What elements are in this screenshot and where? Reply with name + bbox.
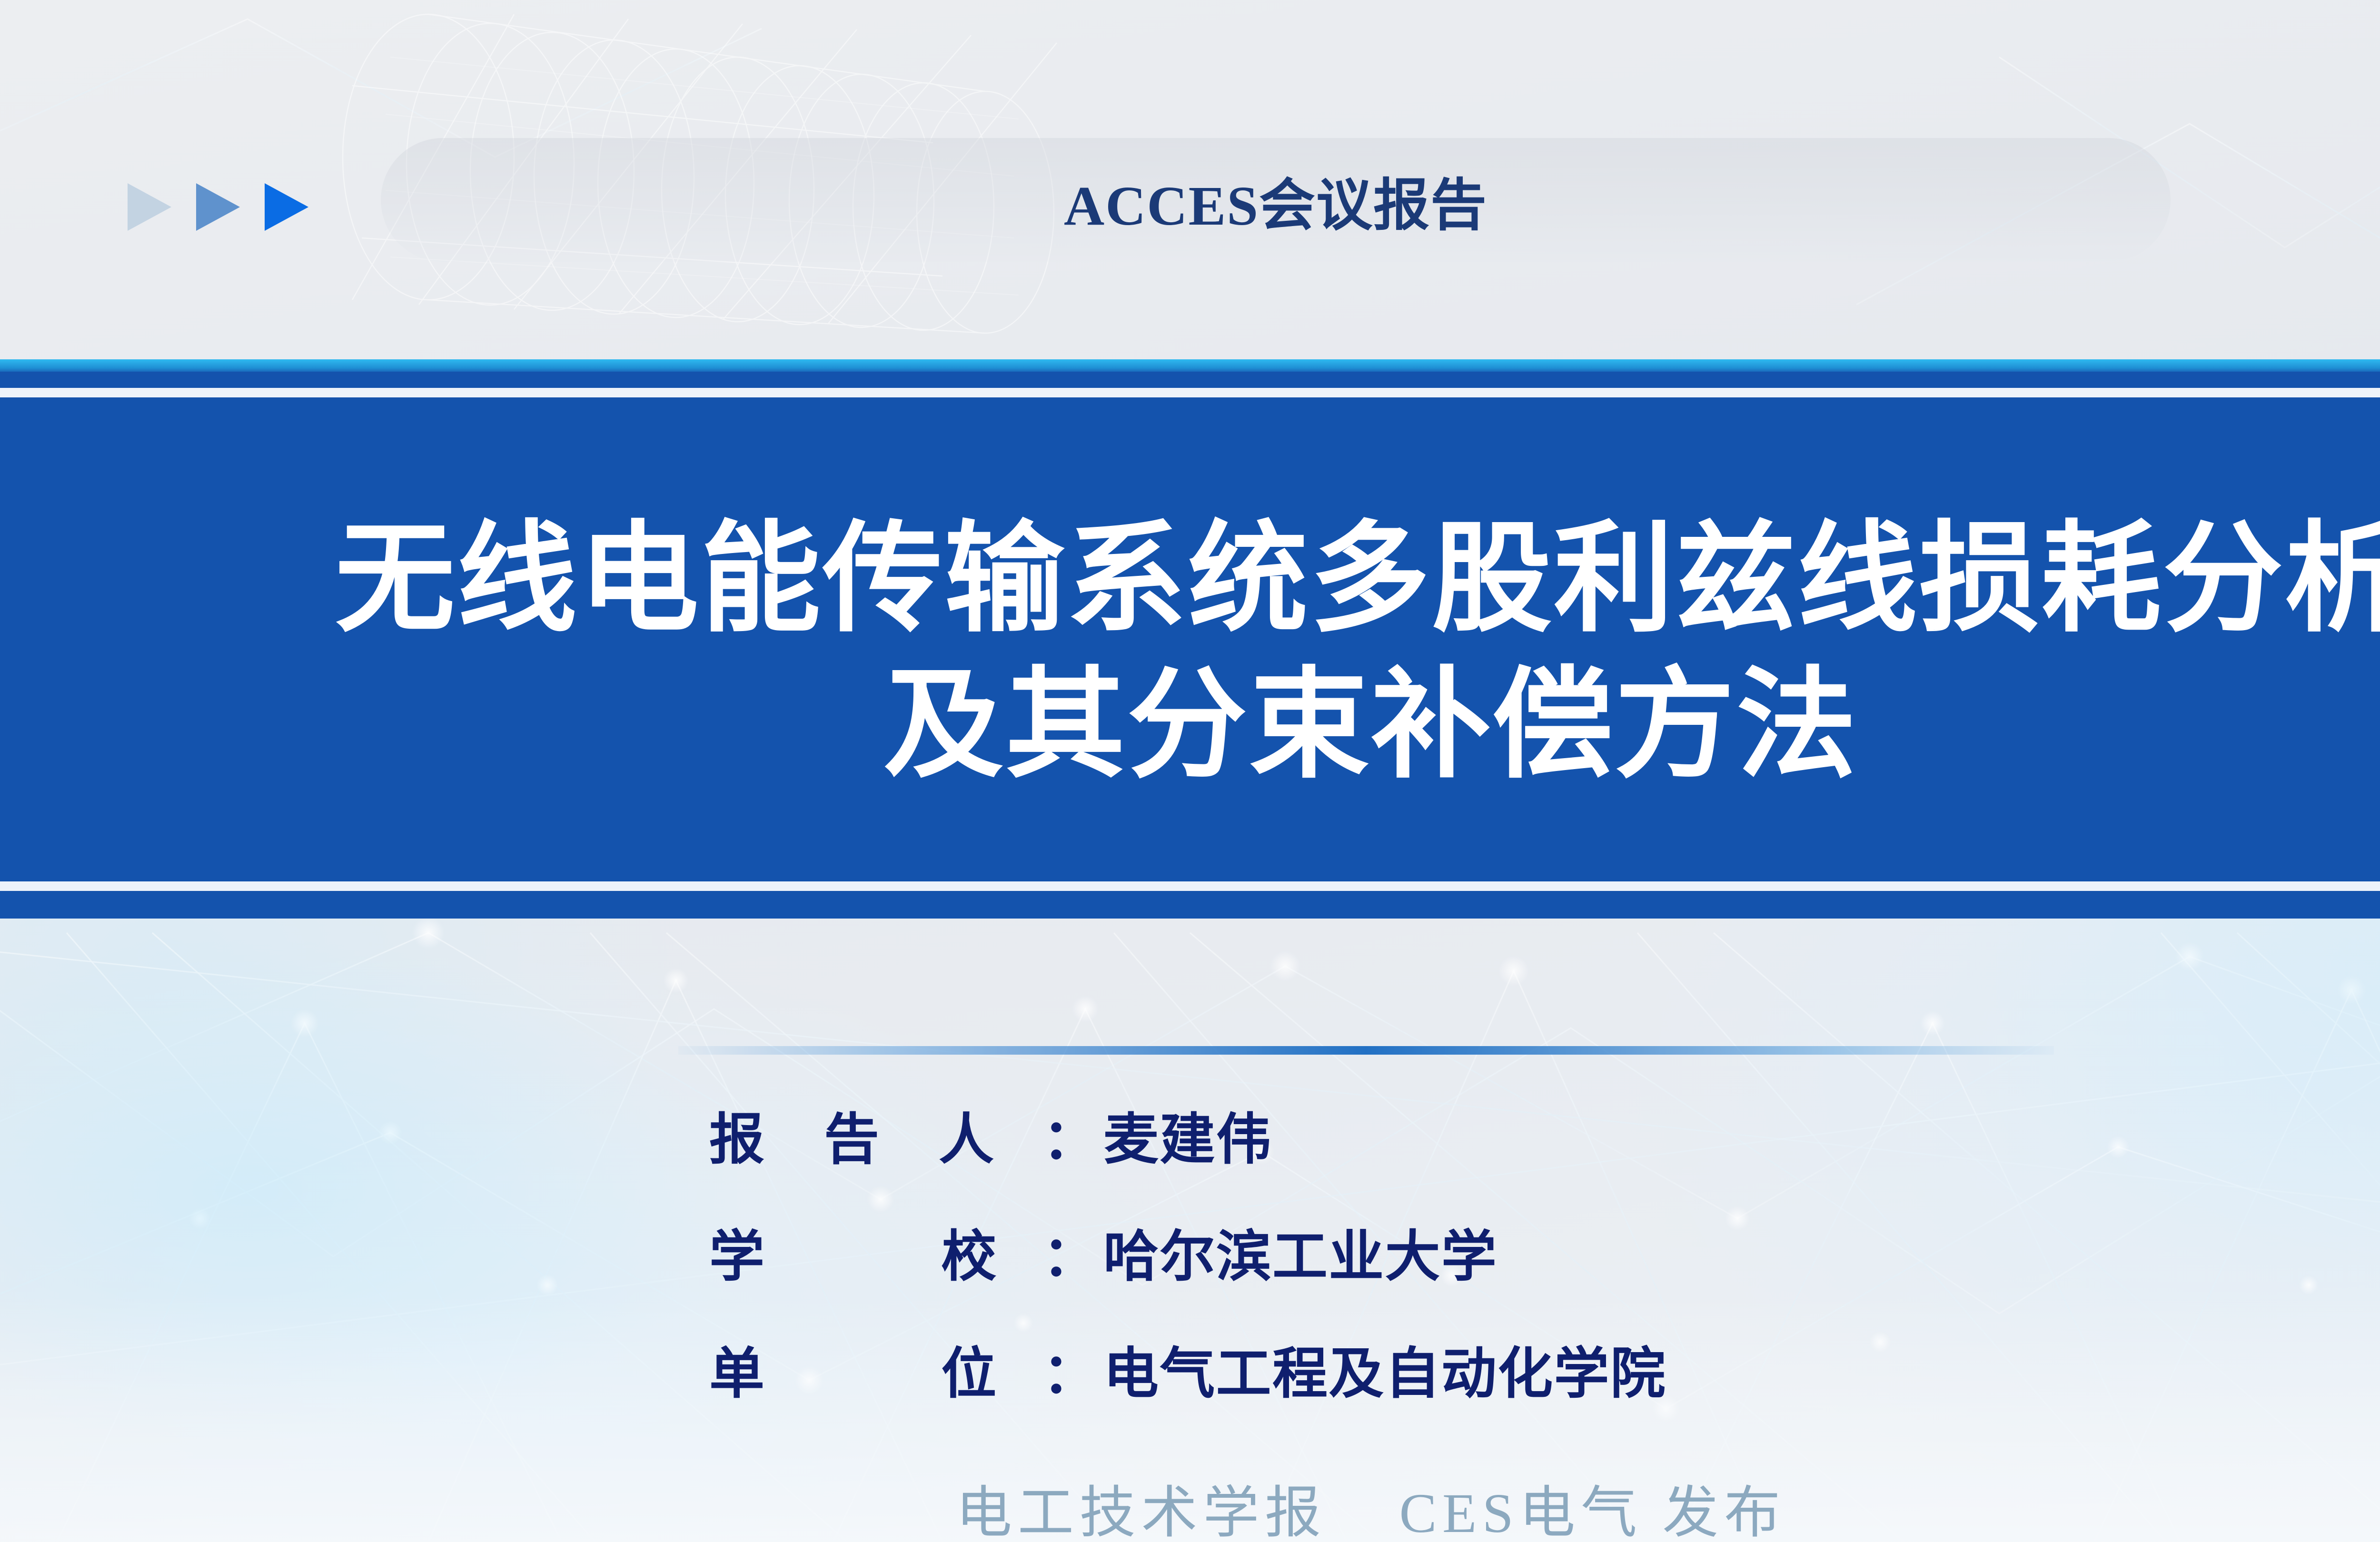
slide-title-line-2: 及其分束补偿方法 (883, 652, 1858, 798)
info-label-school: 学 校 (709, 1212, 1042, 1292)
info-label-department: 单 位 (709, 1329, 1042, 1409)
presenter-info-block: 报 告 人 ： 麦建伟 学 校 ： 哈尔滨工业大学 单 位 ： 电气工程及自动化… (709, 1095, 2185, 1409)
triangle-right-icon (196, 183, 240, 231)
header-title: ACCES会议报告 (381, 138, 2171, 262)
info-colon-presenter: ： (1042, 1095, 1103, 1175)
info-label-presenter: 报 告 人 (709, 1095, 1042, 1175)
info-value-presenter: 麦建伟 (1103, 1095, 1272, 1175)
left-arrow-group (128, 183, 308, 231)
info-row-department: 单 位 ： 电气工程及自动化学院 (709, 1329, 2185, 1409)
banner-accent-stripe (0, 359, 2380, 372)
info-separator-rule (678, 1046, 2054, 1055)
watermark-part-2: CES电气 发布 (1399, 1482, 1786, 1542)
banner-rule-top (0, 388, 2380, 397)
slide-title: 无线电能传输系统多股利兹线损耗分析 及其分束补偿方法 (0, 414, 2380, 890)
watermark-part-1: 电工技术学报 (956, 1482, 1327, 1542)
info-row-school: 学 校 ： 哈尔滨工业大学 (709, 1212, 2185, 1292)
info-value-school: 哈尔滨工业大学 (1103, 1212, 1497, 1292)
triangle-right-icon (265, 183, 308, 231)
title-banner: 无线电能传输系统多股利兹线损耗分析 及其分束补偿方法 (0, 359, 2380, 919)
slide-title-line-1: 无线电能传输系统多股利兹线损耗分析 (335, 506, 2380, 652)
presentation-slide: ACCES会议报告 无线电能传输系统多股利兹线损耗分析 及其分束补偿方法 报 告… (0, 0, 2380, 1542)
info-value-department: 电气工程及自动化学院 (1103, 1329, 1666, 1409)
info-row-presenter: 报 告 人 ： 麦建伟 (709, 1095, 2185, 1175)
info-colon-school: ： (1042, 1212, 1103, 1292)
triangle-right-icon (128, 183, 171, 231)
info-colon-department: ： (1042, 1329, 1103, 1409)
publisher-watermark: 电工技术学报 CES电气 发布 (0, 1467, 2380, 1542)
